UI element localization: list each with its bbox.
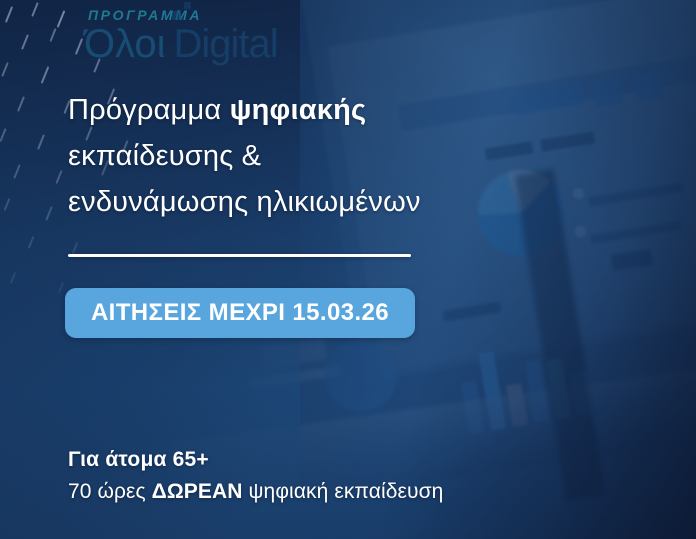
headline-line-1-plain: Πρόγραμμα — [68, 94, 230, 126]
headline-line-1-bold: ψηφιακής — [230, 94, 367, 126]
applications-deadline-button[interactable]: ΑΙΤΗΣΕΙΣ ΜΕΧΡΙ 15.03.26 — [65, 288, 415, 338]
footer-text: Για άτομα 65+ 70 ώρες ΔΩΡΕΑΝ ψηφιακή εκπ… — [68, 446, 443, 508]
logo-square-dot-icon — [172, 11, 181, 20]
footer-eligibility-line: Για άτομα 65+ — [68, 446, 443, 474]
logo-wordmark: Όλοι Digital — [84, 24, 278, 64]
promo-banner: ΠΡΟΓΡΑΜΜΑ Όλοι Digital Πρόγραμμα ψηφιακή… — [0, 0, 696, 539]
divider-rule — [68, 254, 411, 257]
headline-line-1: Πρόγραμμα ψηφιακής — [68, 88, 538, 134]
footer-offer-post: ψηφιακή εκπαίδευση — [243, 480, 444, 503]
footer-offer-pre: 70 ώρες — [68, 480, 152, 503]
logo-square-dot-icon — [184, 2, 191, 9]
headline-line-3: ενδυνάμωσης ηλικιωμένων — [68, 180, 538, 226]
program-logo: ΠΡΟΓΡΑΜΜΑ Όλοι Digital — [84, 4, 278, 64]
logo-word-digital: Digital — [174, 24, 278, 64]
headline: Πρόγραμμα ψηφιακής εκπαίδευσης & ενδυνάμ… — [68, 88, 538, 225]
footer-offer-line: 70 ώρες ΔΩΡΕΑΝ ψηφιακή εκπαίδευση — [68, 476, 443, 508]
logo-word-digital-text: Digital — [174, 22, 278, 66]
logo-kicker-text: ΠΡΟΓΡΑΜΜΑ — [88, 8, 278, 22]
footer-offer-bold: ΔΩΡΕΑΝ — [152, 480, 243, 503]
logo-word-oloi: Όλοι — [84, 24, 166, 64]
headline-line-2: εκπαίδευσης & — [68, 134, 538, 180]
